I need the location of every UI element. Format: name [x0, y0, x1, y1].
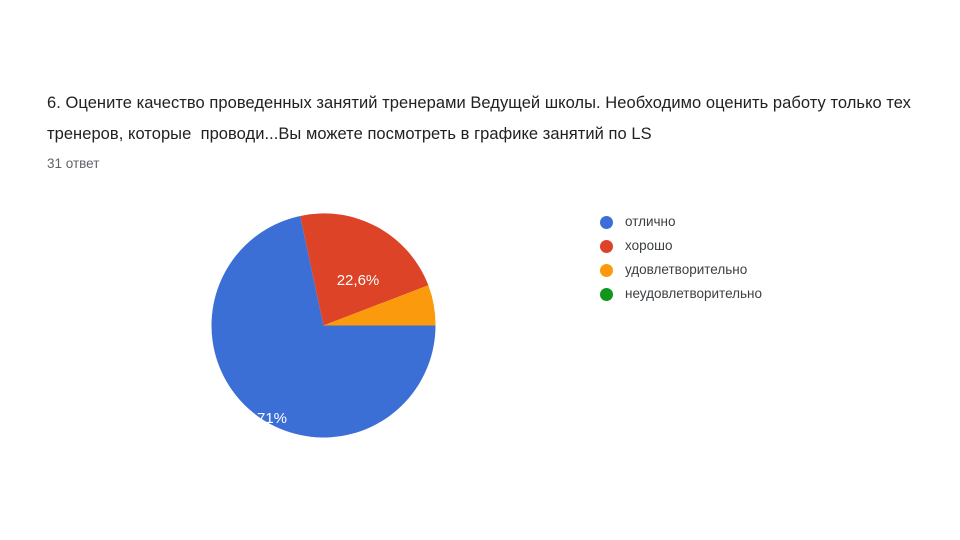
legend-swatch-icon-neudovletvoritelno: [600, 288, 613, 301]
response-count: 31 ответ: [47, 155, 927, 173]
pie-label-otlichno: 71%: [257, 410, 287, 427]
legend-swatch-icon-horosho: [600, 240, 613, 253]
legend-label-otlichno: отлично: [625, 214, 676, 230]
pie-graphic: 22,6% 71%: [211, 213, 436, 438]
legend-swatch-icon-udovletvoritelno: [600, 264, 613, 277]
legend-item-udovletvoritelno[interactable]: удовлетворительно: [600, 258, 930, 282]
legend-label-neudovletvoritelno: неудовлетворительно: [625, 286, 762, 302]
question-title: 6. Оцените качество проведенных занятий …: [47, 88, 927, 150]
pie-svg: 22,6% 71%: [211, 213, 436, 438]
pie-label-horosho: 22,6%: [337, 272, 380, 289]
question-block: 6. Оцените качество проведенных занятий …: [47, 88, 927, 173]
slide-canvas: 6. Оцените качество проведенных занятий …: [0, 0, 960, 540]
legend-label-udovletvoritelno: удовлетворительно: [625, 262, 747, 278]
pie-chart: 22,6% 71% отлично хорошо удовлетворитель…: [0, 185, 960, 475]
legend-label-horosho: хорошо: [625, 238, 672, 254]
legend: отлично хорошо удовлетворительно неудовл…: [600, 210, 930, 306]
legend-swatch-icon-otlichno: [600, 216, 613, 229]
legend-item-otlichno[interactable]: отлично: [600, 210, 930, 234]
legend-item-neudovletvoritelno[interactable]: неудовлетворительно: [600, 282, 930, 306]
legend-item-horosho[interactable]: хорошо: [600, 234, 930, 258]
